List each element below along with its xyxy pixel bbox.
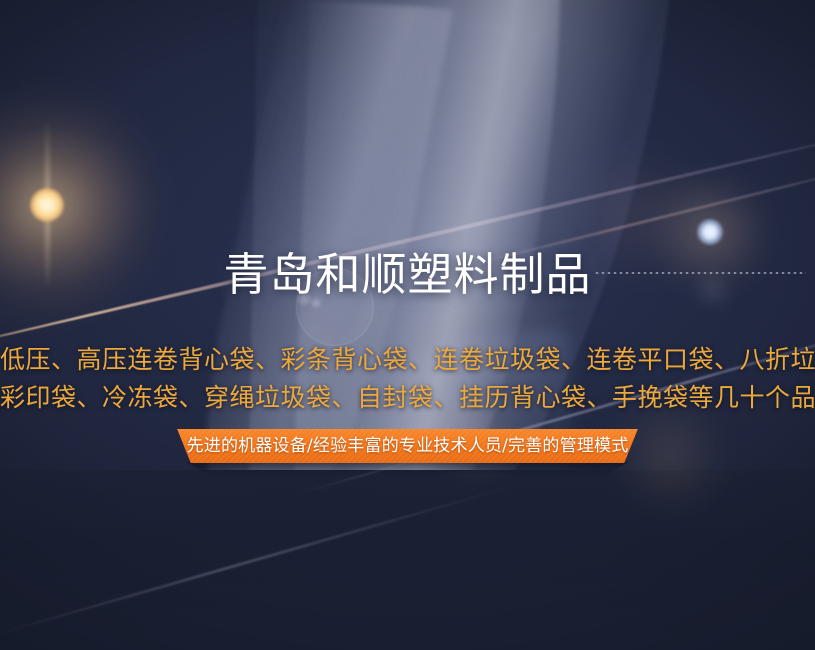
ribbon-label: 先进的机器设备/经验丰富的专业技术人员/完善的管理模式 <box>187 435 629 457</box>
page-title: 青岛和顺塑料制品 <box>0 248 815 302</box>
tagline-ribbon: 先进的机器设备/经验丰富的专业技术人员/完善的管理模式 <box>0 429 815 475</box>
promo-banner: 青岛和顺塑料制品 低压、高压连卷背心袋、彩条背心袋、连卷垃圾袋、连卷平口袋、八折… <box>0 0 815 650</box>
product-list-line-1: 低压、高压连卷背心袋、彩条背心袋、连卷垃圾袋、连卷平口袋、八折垃圾袋、 <box>0 341 815 379</box>
banner-content: 青岛和顺塑料制品 低压、高压连卷背心袋、彩条背心袋、连卷垃圾袋、连卷平口袋、八折… <box>0 0 815 650</box>
ribbon-shadow <box>171 462 645 475</box>
product-list-line-2: 彩印袋、冷冻袋、穿绳垃圾袋、自封袋、挂历背心袋、手挽袋等几十个品种 <box>0 379 815 417</box>
ribbon-shape: 先进的机器设备/经验丰富的专业技术人员/完善的管理模式 <box>165 429 651 463</box>
